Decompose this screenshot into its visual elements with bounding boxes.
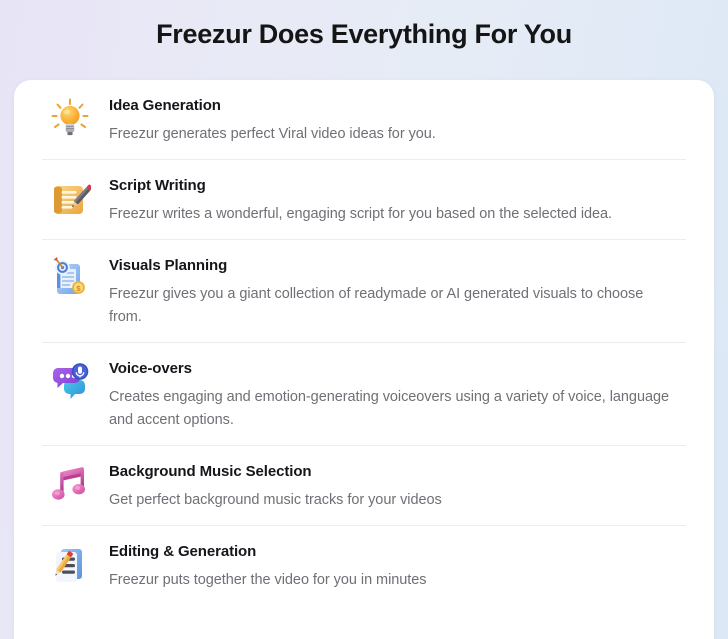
feature-title: Script Writing — [109, 176, 612, 196]
feature-title: Voice-overs — [109, 359, 679, 379]
feature-description: Get perfect background music tracks for … — [109, 489, 442, 512]
lightbulb-icon — [42, 95, 98, 139]
speech-bubbles-microphone-icon — [42, 358, 98, 402]
feature-text: Voice-overs Creates engaging and emotion… — [98, 358, 679, 432]
feature-row: Voice-overs Creates engaging and emotion… — [42, 343, 686, 446]
music-note-icon — [42, 461, 98, 505]
target-document-coin-icon: $ — [42, 255, 98, 299]
feature-text: Idea Generation Freezur generates perfec… — [98, 95, 436, 146]
feature-description: Creates engaging and emotion-generating … — [109, 386, 679, 432]
feature-row: Background Music Selection Get perfect b… — [42, 446, 686, 526]
feature-text: Background Music Selection Get perfect b… — [98, 461, 442, 512]
feature-text: Script Writing Freezur writes a wonderfu… — [98, 175, 612, 226]
feature-text: Visuals Planning Freezur gives you a gia… — [98, 255, 679, 329]
feature-row: Idea Generation Freezur generates perfec… — [42, 80, 686, 160]
features-card: Idea Generation Freezur generates perfec… — [14, 80, 714, 639]
feature-text: Editing & Generation Freezur puts togeth… — [98, 541, 426, 592]
feature-description: Freezur gives you a giant collection of … — [109, 283, 679, 329]
feature-title: Editing & Generation — [109, 542, 426, 562]
feature-row: Editing & Generation Freezur puts togeth… — [42, 526, 686, 605]
feature-row: $ Visuals Planning Freezur gives you a g… — [42, 240, 686, 343]
feature-description: Freezur puts together the video for you … — [109, 569, 426, 592]
feature-description: Freezur writes a wonderful, engaging scr… — [109, 203, 612, 226]
feature-title: Visuals Planning — [109, 256, 679, 276]
feature-row: Script Writing Freezur writes a wonderfu… — [42, 160, 686, 240]
feature-description: Freezur generates perfect Viral video id… — [109, 123, 436, 146]
scroll-pencil-icon — [42, 175, 98, 219]
feature-title: Idea Generation — [109, 96, 436, 116]
page-title: Freezur Does Everything For You — [0, 0, 728, 51]
feature-title: Background Music Selection — [109, 462, 442, 482]
document-pencil-icon — [42, 541, 98, 585]
